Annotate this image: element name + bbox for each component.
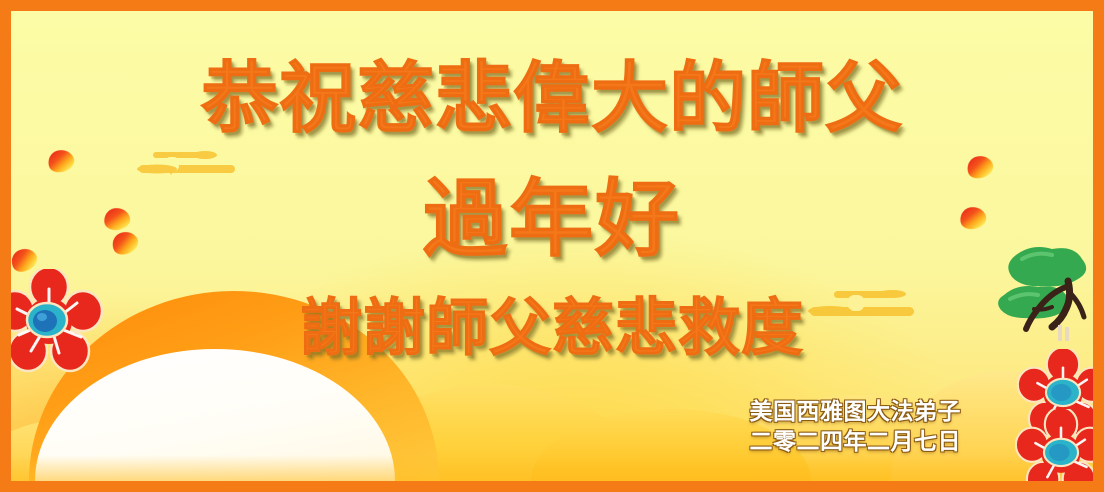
- signature-sender: 美国西雅图大法弟子: [750, 397, 962, 427]
- signature-date: 二零二四年二月七日: [750, 427, 962, 457]
- red-flower-right-lower-icon: [1015, 409, 1093, 481]
- bottom-glow-band: [11, 455, 1093, 481]
- greeting-line-2: 過年好: [11, 174, 1093, 264]
- greeting-card: 恭祝慈悲偉大的師父 過年好 謝謝師父慈悲救度 美国西雅图大法弟子 二零二四年二月…: [0, 0, 1104, 492]
- greeting-line-3: 謝謝師父慈悲救度: [11, 294, 1093, 362]
- signature-block: 美国西雅图大法弟子 二零二四年二月七日: [750, 397, 962, 457]
- greeting-line-1: 恭祝慈悲偉大的師父: [11, 58, 1093, 142]
- card-inner-area: 恭祝慈悲偉大的師父 過年好 謝謝師父慈悲救度 美国西雅图大法弟子 二零二四年二月…: [11, 11, 1093, 481]
